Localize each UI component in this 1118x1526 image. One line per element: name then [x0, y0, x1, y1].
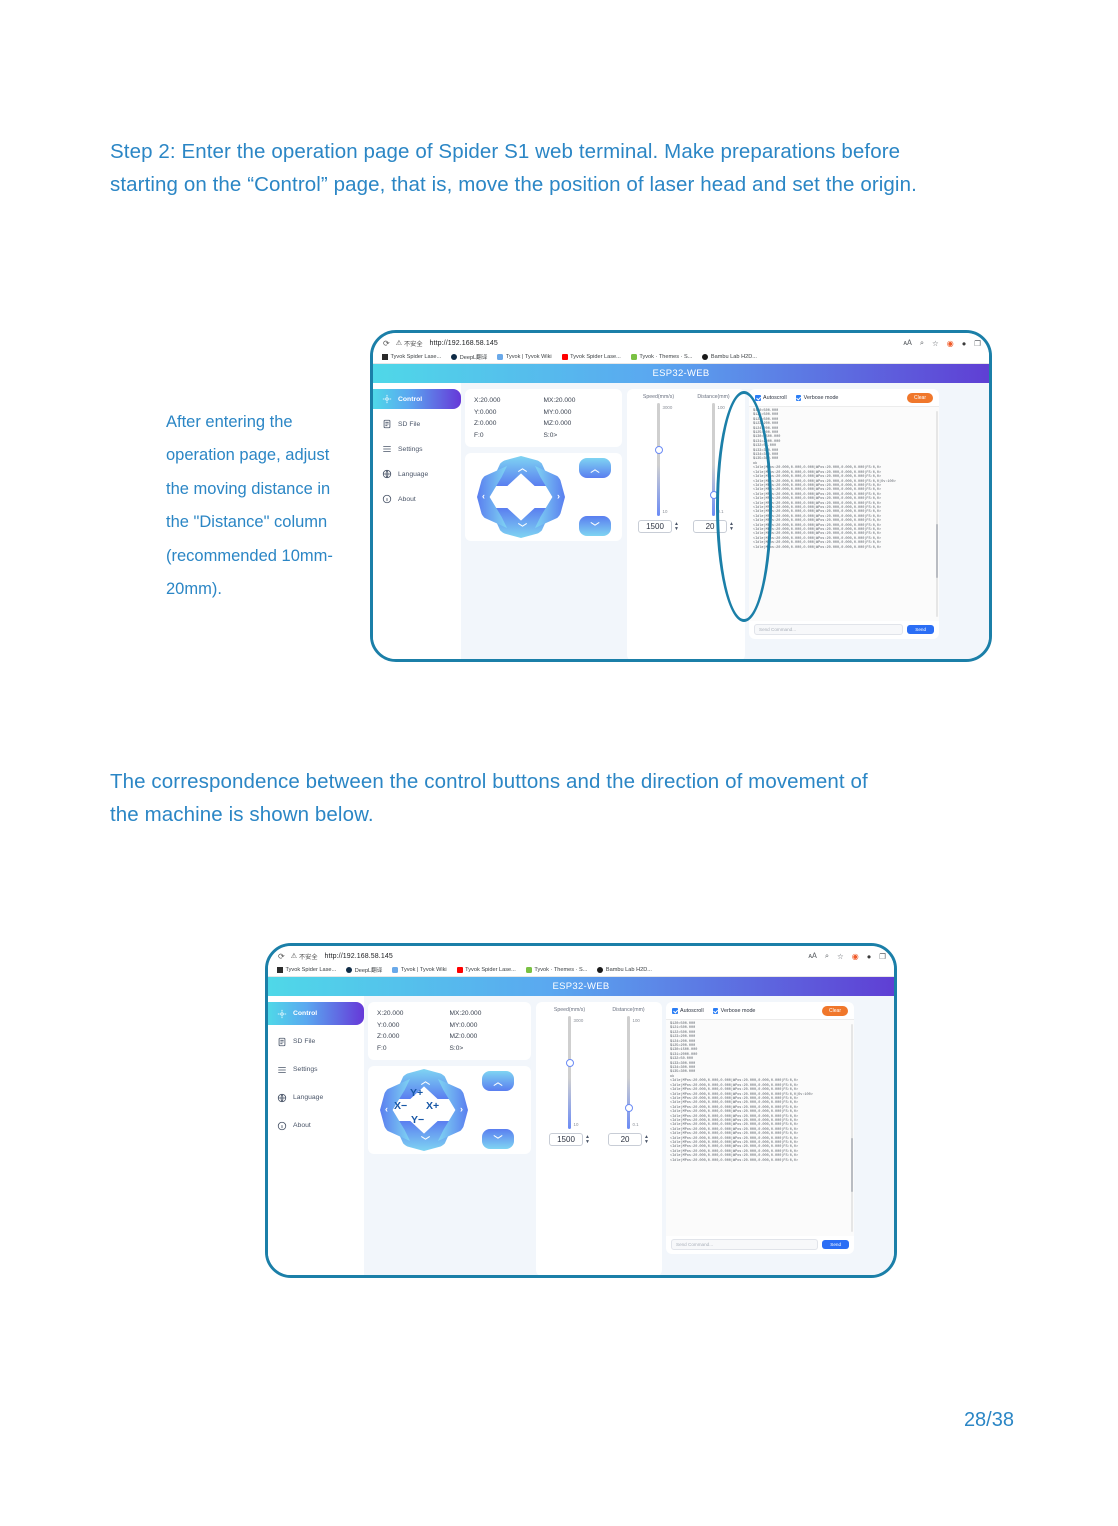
control-centre-column: X:20.000 Y:0.000 Z:0.000 F:0 MX:20.000 M… — [364, 996, 536, 1276]
console-header: Autoscroll Verbose mode Clear — [749, 389, 939, 406]
control-centre-column: X:20.000 Y:0.000 Z:0.000 F:0 MX:20.000 M… — [461, 383, 627, 661]
wiki-icon — [497, 354, 503, 360]
sidebar-item-label: Settings — [398, 446, 423, 453]
verbose-label: Verbose mode — [721, 1008, 756, 1014]
autoscroll-checkbox[interactable]: Autoscroll — [755, 395, 787, 401]
coordinates-work: X:20.000 Y:0.000 Z:0.000 F:0 — [377, 1008, 450, 1054]
coordinates-machine: MX:20.000 MY:0.000 MZ:0.000 S:0> — [544, 395, 614, 441]
distance-input[interactable]: 20 — [608, 1133, 642, 1146]
sdfile-icon — [277, 1037, 287, 1047]
checkbox-icon — [755, 395, 761, 401]
send-command-input[interactable]: Send Command... — [671, 1239, 818, 1250]
bookmark-star-icon[interactable]: ☆ — [837, 952, 844, 961]
checkbox-icon — [796, 395, 802, 401]
sidebar-item-label: Settings — [293, 1066, 318, 1073]
z-down-button[interactable]: ﹀ — [579, 516, 611, 536]
security-indicator[interactable]: ⚠ 不安全 — [291, 952, 318, 961]
z-up-button[interactable]: ︿ — [579, 458, 611, 478]
sdfile-icon — [382, 419, 392, 429]
sidebar-item-settings[interactable]: Settings — [373, 439, 461, 459]
app-body: Control SD File Settings Language About — [268, 996, 894, 1276]
bookmark-item[interactable]: Tyvok | Tyvok Wiki — [392, 967, 446, 973]
console-header: Autoscroll Verbose mode Clear — [666, 1002, 854, 1019]
speed-slider-min: 10 — [574, 1122, 579, 1127]
console-scrollbar[interactable] — [936, 411, 939, 617]
clear-button[interactable]: Clear — [907, 393, 933, 403]
bookmarks-bar: Tyvok Spider Lase... DeepL翻译 Tyvok | Tyv… — [268, 963, 894, 977]
themes-icon — [526, 967, 532, 973]
autoscroll-label: Autoscroll — [680, 1008, 704, 1014]
distance-stepper[interactable]: ▲▼ — [644, 1135, 649, 1144]
distance-input-row: 20 ▲▼ — [603, 1133, 655, 1146]
chevron-left-icon: ‹ — [482, 491, 485, 501]
wiki-icon — [392, 967, 398, 973]
speed-input-row: 1500 ▲▼ — [544, 1133, 596, 1146]
youtube-icon — [457, 967, 463, 973]
distance-slider-min: 0.1 — [633, 1122, 639, 1127]
sidebar-item-about[interactable]: About — [268, 1114, 364, 1137]
warning-triangle-icon: ⚠ — [396, 339, 402, 347]
zoom-icon[interactable]: ⌕ — [920, 338, 924, 348]
speed-input[interactable]: 1500 — [549, 1133, 583, 1146]
coordinates-readout: X:20.000 Y:0.000 Z:0.000 F:0 MX:20.000 M… — [377, 1008, 522, 1054]
reload-icon[interactable]: ⟳ — [383, 339, 390, 348]
speed-stepper[interactable]: ▲▼ — [585, 1135, 590, 1144]
sliders-panel: Speed(mm/s) 3000 10 1500 ▲▼ Distance(mm) — [627, 389, 745, 661]
bookmark-item[interactable]: Bambu Lab H2D... — [597, 967, 652, 973]
profile-icon[interactable]: ● — [867, 952, 872, 961]
bambulab-icon — [702, 354, 708, 360]
checkbox-icon — [672, 1008, 678, 1014]
tyvok-icon — [277, 967, 283, 973]
coordinates-work: X:20.000 Y:0.000 Z:0.000 F:0 — [474, 395, 544, 441]
bookmark-item[interactable]: Tyvok Spider Lase... — [382, 354, 441, 360]
bookmark-label: Tyvok Spider Lase... — [465, 967, 516, 973]
coord-z: Z:0.000 — [474, 418, 544, 430]
browser-toolbar: ⟳ ⚠ 不安全 http://192.168.58.145 🗚 ⌕ ☆ ◉ ● … — [268, 946, 894, 963]
youtube-icon — [562, 354, 568, 360]
sidebar-item-label: About — [398, 496, 416, 503]
sidebar-item-settings[interactable]: Settings — [268, 1058, 364, 1081]
control-icon — [277, 1009, 287, 1019]
globe-icon — [277, 1093, 287, 1103]
speed-slider-label: Speed(mm/s) — [544, 1007, 596, 1013]
sidebar-item-sd-file[interactable]: SD File — [373, 414, 461, 434]
sidebar-item-sd-file[interactable]: SD File — [268, 1030, 364, 1053]
browser-screenshot-top: ⟳ ⚠ 不安全 http://192.168.58.145 🗚 ⌕ ☆ ◉ ● … — [370, 330, 992, 662]
speed-slider-group: Speed(mm/s) 3000 10 1500 ▲▼ — [544, 1007, 596, 1146]
bookmark-item[interactable]: Tyvok · Themes · S... — [526, 967, 588, 973]
verbose-label: Verbose mode — [804, 395, 839, 401]
chevron-right-icon: › — [460, 1104, 463, 1114]
coordinates-machine: MX:20.000 MY:0.000 MZ:0.000 S:0> — [450, 1008, 523, 1054]
speed-slider-max: 3000 — [574, 1018, 584, 1023]
bookmark-item[interactable]: DeepL翻译 — [451, 353, 487, 361]
sidebar-item-control[interactable]: Control — [268, 1002, 364, 1025]
distance-caption-paragraph: After entering the operation page, adjus… — [166, 406, 336, 607]
jog-pad: ︿ ﹀ ‹ › Y+ X− X+ Y− — [380, 1069, 468, 1151]
app-title: ESP32-WEB — [268, 977, 894, 996]
bookmark-label: Tyvok · Themes · S... — [534, 967, 587, 973]
speed-stepper[interactable]: ▲▼ — [674, 522, 679, 531]
coordinates-card: X:20.000 Y:0.000 Z:0.000 F:0 MX:20.000 M… — [465, 389, 622, 447]
bookmark-star-icon[interactable]: ☆ — [932, 339, 939, 348]
distance-slider[interactable]: 100 0.1 — [603, 1016, 655, 1129]
toolbar-right-icons: 🗚 ⌕ ☆ ◉ ● ❐ — [808, 951, 886, 961]
warning-triangle-icon: ⚠ — [291, 952, 297, 960]
speed-input[interactable]: 1500 — [638, 520, 672, 533]
coord-f: F:0 — [377, 1043, 450, 1055]
coord-my: MY:0.000 — [450, 1020, 523, 1032]
bookmark-label: DeepL翻译 — [355, 966, 383, 974]
speed-slider[interactable]: 3000 10 — [633, 403, 685, 516]
coord-s: S:0> — [544, 430, 614, 442]
bookmark-item[interactable]: DeepL翻译 — [346, 966, 382, 974]
page-number: 28/38 — [964, 1409, 1014, 1432]
sidebar-item-label: Language — [398, 471, 428, 478]
distance-slider[interactable]: 100 0.1 — [688, 403, 740, 516]
sidebar-item-language[interactable]: Language — [268, 1086, 364, 1109]
console-footer: Send Command... Send — [749, 621, 939, 639]
slider-row: Speed(mm/s) 3000 10 1500 ▲▼ Distance(mm) — [631, 394, 741, 533]
verbose-mode-checkbox[interactable]: Verbose mode — [796, 395, 839, 401]
sidebar-item-control[interactable]: Control — [373, 389, 461, 409]
distance-input-row: 20 ▲▼ — [688, 520, 740, 533]
sidebar-item-label: Control — [398, 396, 422, 403]
jog-card: ︿ ﹀ ‹ › Y+ X− X+ Y− ︿ ﹀ — [368, 1066, 531, 1154]
deepl-icon — [451, 354, 457, 360]
bookmark-label: Bambu Lab H2D... — [711, 354, 757, 360]
z-down-button[interactable]: ﹀ — [482, 1129, 514, 1149]
bookmark-item[interactable]: Tyvok · Themes · S... — [631, 354, 693, 360]
extension-orange-icon[interactable]: ◉ — [947, 339, 954, 348]
jog-controls: ︿ ﹀ ‹ › Y+ X− X+ Y− ︿ ﹀ — [368, 1066, 531, 1154]
settings-icon — [382, 444, 392, 454]
console-footer: Send Command... Send — [666, 1236, 854, 1254]
sidebar-item-language[interactable]: Language — [373, 464, 461, 484]
browser-screenshot-bottom: ⟳ ⚠ 不安全 http://192.168.58.145 🗚 ⌕ ☆ ◉ ● … — [265, 943, 897, 1278]
bookmark-item[interactable]: Tyvok Spider Lase... — [562, 354, 621, 360]
bookmark-item[interactable]: Tyvok | Tyvok Wiki — [497, 354, 551, 360]
app-body: Control SD File Settings Language About — [373, 383, 989, 661]
bookmark-label: Tyvok | Tyvok Wiki — [401, 967, 447, 973]
autoscroll-checkbox[interactable]: Autoscroll — [672, 1008, 704, 1014]
sliders-panel: Speed(mm/s) 3000 10 1500 ▲▼ Distance(mm) — [536, 1002, 662, 1276]
sidebar-item-label: Control — [293, 1010, 317, 1017]
themes-icon — [631, 354, 637, 360]
browser-toolbar: ⟳ ⚠ 不安全 http://192.168.58.145 🗚 ⌕ ☆ ◉ ● … — [373, 333, 989, 350]
bookmark-item[interactable]: Tyvok Spider Lase... — [457, 967, 516, 973]
bookmark-item[interactable]: Bambu Lab H2D... — [702, 354, 757, 360]
console-panel: Autoscroll Verbose mode Clear $120=500.0… — [749, 389, 939, 639]
bookmark-label: Bambu Lab H2D... — [606, 967, 652, 973]
address-bar-url[interactable]: http://192.168.58.145 — [430, 340, 498, 347]
console-panel: Autoscroll Verbose mode Clear $120=500.0… — [666, 1002, 854, 1254]
coordinates-card: X:20.000 Y:0.000 Z:0.000 F:0 MX:20.000 M… — [368, 1002, 531, 1060]
bookmark-label: Tyvok Spider Lase... — [391, 354, 442, 360]
sidebar-item-label: Language — [293, 1094, 323, 1101]
coord-f: F:0 — [474, 430, 544, 442]
z-axis-controls: ︿ ﹀ — [579, 458, 611, 536]
coord-mz: MZ:0.000 — [544, 418, 614, 430]
translate-icon[interactable]: 🗚 — [903, 338, 912, 348]
coord-x: X:20.000 — [377, 1008, 450, 1020]
distance-slider-label: Distance(mm) — [688, 394, 740, 400]
jog-pad: ︿ ﹀ ‹ › — [477, 456, 565, 538]
bookmarks-bar: Tyvok Spider Lase... DeepL翻译 Tyvok | Tyv… — [373, 350, 989, 364]
address-bar-url[interactable]: http://192.168.58.145 — [325, 953, 393, 960]
speed-slider-track — [657, 403, 661, 516]
console-log[interactable]: $120=500.000 $121=500.000 $122=500.000 $… — [749, 406, 939, 621]
speed-slider[interactable]: 3000 10 — [544, 1016, 596, 1129]
distance-input[interactable]: 20 — [693, 520, 727, 533]
reload-icon[interactable]: ⟳ — [278, 952, 285, 961]
distance-slider-max: 100 — [718, 405, 725, 410]
speed-input-row: 1500 ▲▼ — [633, 520, 685, 533]
speed-slider-min: 10 — [663, 509, 668, 514]
send-button[interactable]: Send — [822, 1240, 849, 1249]
coord-y: Y:0.000 — [474, 407, 544, 419]
coord-mx: MX:20.000 — [450, 1008, 523, 1020]
toolbar-right-icons: 🗚 ⌕ ☆ ◉ ● ❐ — [903, 338, 981, 348]
chevron-down-icon: ﹀ — [518, 521, 527, 534]
tyvok-icon — [382, 354, 388, 360]
deepl-icon — [346, 967, 352, 973]
extension-orange-icon[interactable]: ◉ — [852, 952, 859, 961]
bambulab-icon — [597, 967, 603, 973]
slider-row: Speed(mm/s) 3000 10 1500 ▲▼ Distance(mm) — [540, 1007, 658, 1146]
info-icon — [382, 494, 392, 504]
coord-y: Y:0.000 — [377, 1020, 450, 1032]
checkbox-icon — [713, 1008, 719, 1014]
autoscroll-label: Autoscroll — [763, 395, 787, 401]
settings-icon — [277, 1065, 287, 1075]
speed-slider-group: Speed(mm/s) 3000 10 1500 ▲▼ — [633, 394, 685, 533]
security-indicator[interactable]: ⚠ 不安全 — [396, 339, 423, 348]
control-actions-area: Laser/Spindle: OFF 5% 25% 50% 100% Soft … — [268, 1276, 894, 1278]
sidebar-item-label: SD File — [293, 1038, 315, 1045]
globe-icon — [382, 469, 392, 479]
distance-slider-group: Distance(mm) 100 0.1 20 ▲▼ — [603, 1007, 655, 1146]
coord-x: X:20.000 — [474, 395, 544, 407]
send-button[interactable]: Send — [907, 625, 934, 634]
chevron-left-icon: ‹ — [385, 1104, 388, 1114]
bookmark-label: Tyvok | Tyvok Wiki — [506, 354, 552, 360]
bookmark-label: Tyvok Spider Lase... — [286, 967, 337, 973]
chevron-up-icon: ︿ — [518, 461, 527, 474]
chevron-down-icon: ﹀ — [421, 1134, 430, 1147]
bookmark-label: DeepL翻译 — [460, 353, 488, 361]
app-title: ESP32-WEB — [373, 364, 989, 383]
bookmark-item[interactable]: Tyvok Spider Lase... — [277, 967, 336, 973]
axis-label-x-plus: X+ — [426, 1100, 439, 1112]
speed-slider-label: Speed(mm/s) — [633, 394, 685, 400]
distance-slider-min: 0.1 — [718, 509, 724, 514]
speed-slider-knob[interactable] — [566, 1059, 574, 1067]
coordinates-readout: X:20.000 Y:0.000 Z:0.000 F:0 MX:20.000 M… — [474, 395, 613, 441]
console-scrollbar[interactable] — [851, 1024, 854, 1232]
zoom-icon[interactable]: ⌕ — [825, 951, 829, 961]
sidebar-item-about[interactable]: About — [373, 489, 461, 509]
correspondence-paragraph: The correspondence between the control b… — [110, 765, 900, 831]
sidebar-item-label: About — [293, 1122, 311, 1129]
jog-right-button[interactable] — [535, 466, 565, 528]
chevron-right-icon: › — [557, 491, 560, 501]
z-axis-controls: ︿ ﹀ — [482, 1071, 514, 1149]
distance-stepper[interactable]: ▲▼ — [729, 522, 734, 531]
tabs-icon[interactable]: ❐ — [974, 339, 981, 348]
jog-controls: ︿ ﹀ ‹ › ︿ ﹀ — [465, 453, 622, 541]
security-label: 不安全 — [299, 952, 318, 961]
security-label: 不安全 — [404, 339, 423, 348]
control-actions-area: Laser/Spindle: OFF 5% 25% 50% 100% Soft … — [373, 661, 989, 662]
speed-slider-knob[interactable] — [655, 446, 663, 454]
distance-slider-group: Distance(mm) 100 0.1 20 ▲▼ — [688, 394, 740, 533]
sidebar: Control SD File Settings Language About — [268, 996, 364, 1276]
step2-paragraph: Step 2: Enter the operation page of Spid… — [110, 135, 920, 201]
distance-slider-max: 100 — [633, 1018, 640, 1023]
distance-slider-knob[interactable] — [710, 491, 718, 499]
tabs-icon[interactable]: ❐ — [879, 952, 886, 961]
sidebar-item-label: SD File — [398, 421, 420, 428]
speed-slider-max: 3000 — [663, 405, 673, 410]
bookmark-label: Tyvok Spider Lase... — [570, 354, 621, 360]
coord-mx: MX:20.000 — [544, 395, 614, 407]
control-icon — [382, 394, 392, 404]
coord-mz: MZ:0.000 — [450, 1031, 523, 1043]
info-icon — [277, 1121, 287, 1131]
chevron-up-icon: ︿ — [421, 1074, 430, 1087]
z-up-button[interactable]: ︿ — [482, 1071, 514, 1091]
speed-slider-track — [568, 1016, 572, 1129]
send-command-input[interactable]: Send Command... — [754, 624, 903, 635]
sidebar: Control SD File Settings Language About — [373, 383, 461, 661]
translate-icon[interactable]: 🗚 — [808, 951, 817, 961]
coord-s: S:0> — [450, 1043, 523, 1055]
coord-z: Z:0.000 — [377, 1031, 450, 1043]
distance-slider-label: Distance(mm) — [603, 1007, 655, 1013]
jog-card: ︿ ﹀ ‹ › ︿ ﹀ — [465, 453, 622, 541]
console-log[interactable]: $120=500.000 $121=500.000 $122=500.000 $… — [666, 1019, 854, 1236]
bookmark-label: Tyvok · Themes · S... — [639, 354, 692, 360]
profile-icon[interactable]: ● — [962, 339, 967, 348]
clear-button[interactable]: Clear — [822, 1006, 848, 1016]
distance-slider-knob[interactable] — [625, 1104, 633, 1112]
coord-my: MY:0.000 — [544, 407, 614, 419]
verbose-mode-checkbox[interactable]: Verbose mode — [713, 1008, 756, 1014]
